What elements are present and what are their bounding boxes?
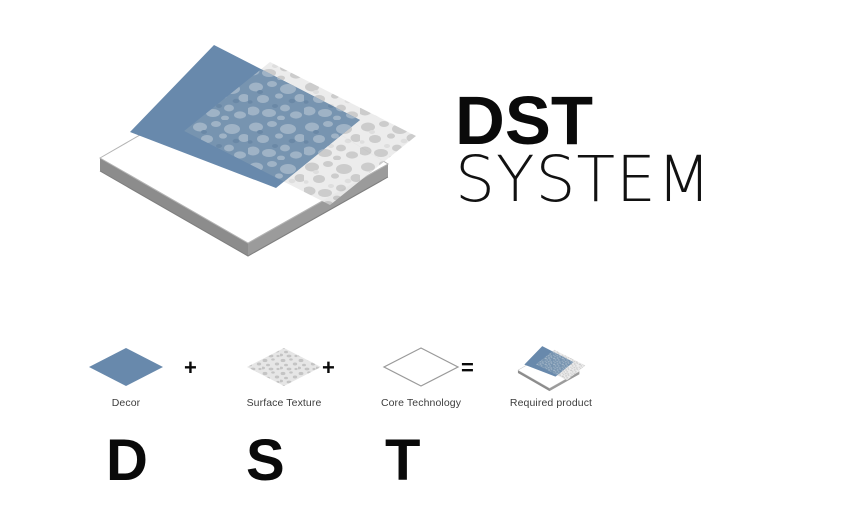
formula-label-decor: Decor — [112, 397, 141, 409]
acronym-letter-s: S — [246, 432, 285, 490]
acronym-letters-row: D S T — [82, 432, 482, 492]
formula-label-core-technology: Core Technology — [381, 397, 461, 409]
acronym-letter-t: T — [385, 432, 420, 490]
layered-panel-mini-icon — [487, 345, 615, 393]
formula-label-required-product: Required product — [510, 397, 592, 409]
formula-label-surface-texture: Surface Texture — [247, 397, 322, 409]
blue-diamond-icon — [82, 345, 170, 393]
hero-layered-panel-graphic — [80, 40, 430, 265]
formula-row: Decor + — [82, 345, 612, 425]
equals-icon: = — [461, 355, 474, 380]
formula-item-required-product: Required product — [487, 345, 615, 411]
formula-operator-plus-2: + — [322, 357, 335, 379]
plus-icon: + — [322, 355, 335, 380]
formula-operator-plus-1: + — [184, 357, 197, 379]
plus-icon: + — [184, 355, 197, 380]
acronym-letter-d: D — [106, 432, 148, 490]
formula-operator-equals: = — [461, 357, 474, 379]
hero-title-system: SYSTEM — [455, 150, 785, 210]
hero-title: DST SYSTEM — [455, 88, 785, 211]
poster-canvas: DST SYSTEM Decor + — [0, 0, 860, 532]
formula-item-decor: Decor — [82, 345, 170, 411]
